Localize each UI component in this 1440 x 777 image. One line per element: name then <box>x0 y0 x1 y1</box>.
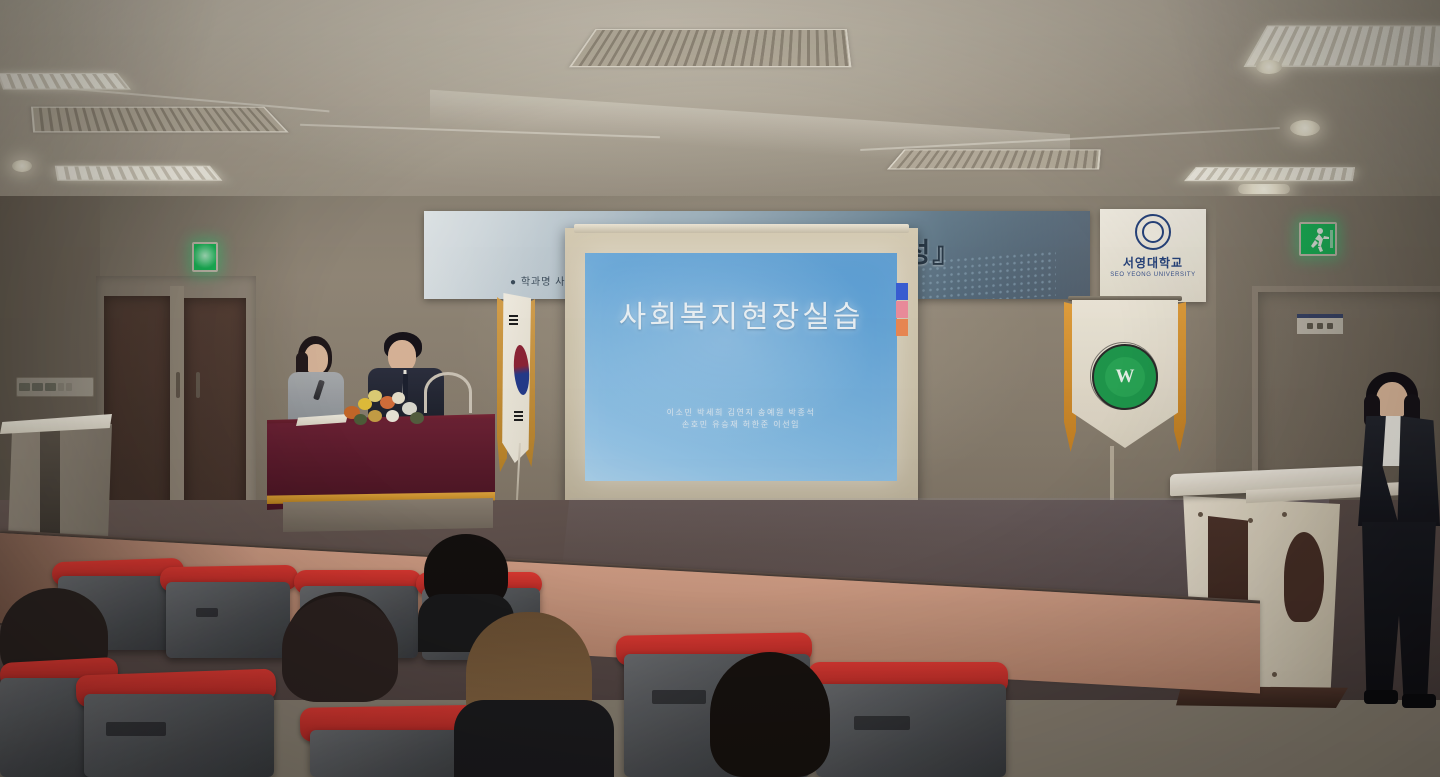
flower-8 <box>368 410 382 422</box>
trigram-2c <box>514 419 523 421</box>
moderator-shoe-left <box>1364 690 1398 704</box>
slide-subtitle-line-1: 이소민 박세희 김연지 송예원 박종석 <box>585 407 897 419</box>
university-banner: 서영대학교 SEO YEONG UNIVERSITY <box>1100 209 1206 302</box>
trigram-1a <box>509 315 518 317</box>
ceiling-vent-center <box>569 29 851 67</box>
ceiling-shadow-left <box>0 0 240 215</box>
slide-subtitle: 이소민 박세희 김연지 송예원 박종석 손호민 유승재 허한준 이선임 <box>585 407 897 431</box>
equipment-cart <box>8 424 112 544</box>
audience-shoulders-f2 <box>454 700 614 777</box>
equipment-cart-rail <box>40 424 60 544</box>
trigram-2a <box>514 411 523 413</box>
podium-fastener-1 <box>1198 512 1203 517</box>
tab-pink-icon <box>896 301 908 318</box>
university-name-ko: 서영대학교 <box>1123 254 1183 271</box>
flower-5 <box>392 392 405 404</box>
university-seal-inner <box>1142 221 1164 243</box>
seat-back-b2[interactable] <box>166 582 290 658</box>
podium-side-cutout <box>1284 532 1324 622</box>
projection-screen-roller <box>574 224 909 233</box>
slide-title: 사회복지현장실습 <box>585 292 897 336</box>
ceiling-vent-right <box>887 149 1101 169</box>
trigram-1c <box>509 323 518 325</box>
audience-hair-f3 <box>710 652 830 777</box>
flower-leaf-right <box>410 412 424 424</box>
seat-back-f5[interactable] <box>816 684 1006 777</box>
flag-cloth <box>501 293 531 463</box>
department-pennant: W <box>1064 300 1186 470</box>
moderator-shoe-right <box>1402 694 1436 708</box>
seat-slot-f4 <box>652 690 706 704</box>
podium-fastener-4 <box>1272 672 1277 677</box>
department-emblem-letter: W <box>1105 357 1145 397</box>
flower-7 <box>386 410 399 422</box>
podium-fastener-2 <box>1248 518 1253 523</box>
moderator-trousers <box>1362 522 1436 702</box>
university-seal-icon <box>1135 214 1171 250</box>
podium-fastener-3 <box>1282 512 1287 517</box>
seat-slot-f5 <box>854 716 910 730</box>
trigram-2b <box>514 415 523 417</box>
ceiling-shadow-right <box>1110 0 1440 215</box>
audience-hair-f1 <box>282 596 398 702</box>
university-name-en: SEO YEONG UNIVERSITY <box>1110 272 1196 278</box>
flower-arrangement <box>340 388 436 430</box>
korean-flag <box>497 293 537 508</box>
presentation-slide <box>585 253 897 481</box>
slide-subtitle-line-2: 손호민 유승재 허한준 이선임 <box>585 419 897 431</box>
tab-orange-icon <box>896 319 908 336</box>
taeguk-symbol-icon <box>512 345 530 396</box>
presenter-table-base <box>283 498 493 532</box>
trigram-1b <box>509 319 518 321</box>
slide-color-tabs <box>896 283 908 337</box>
auditorium-photo: 『취업을 위한 자기소개서 작성』 ● 학과명 사회복지과 서영대학교 SEO … <box>0 0 1440 777</box>
seat-slot-b2 <box>196 608 218 617</box>
seat-slot-f2 <box>106 722 166 736</box>
department-seal-icon: W <box>1092 344 1158 410</box>
flower-leaf-left <box>354 414 367 425</box>
tab-blue-icon <box>896 283 908 300</box>
moderator-at-podium <box>1358 372 1440 712</box>
presenter-left <box>286 336 346 426</box>
